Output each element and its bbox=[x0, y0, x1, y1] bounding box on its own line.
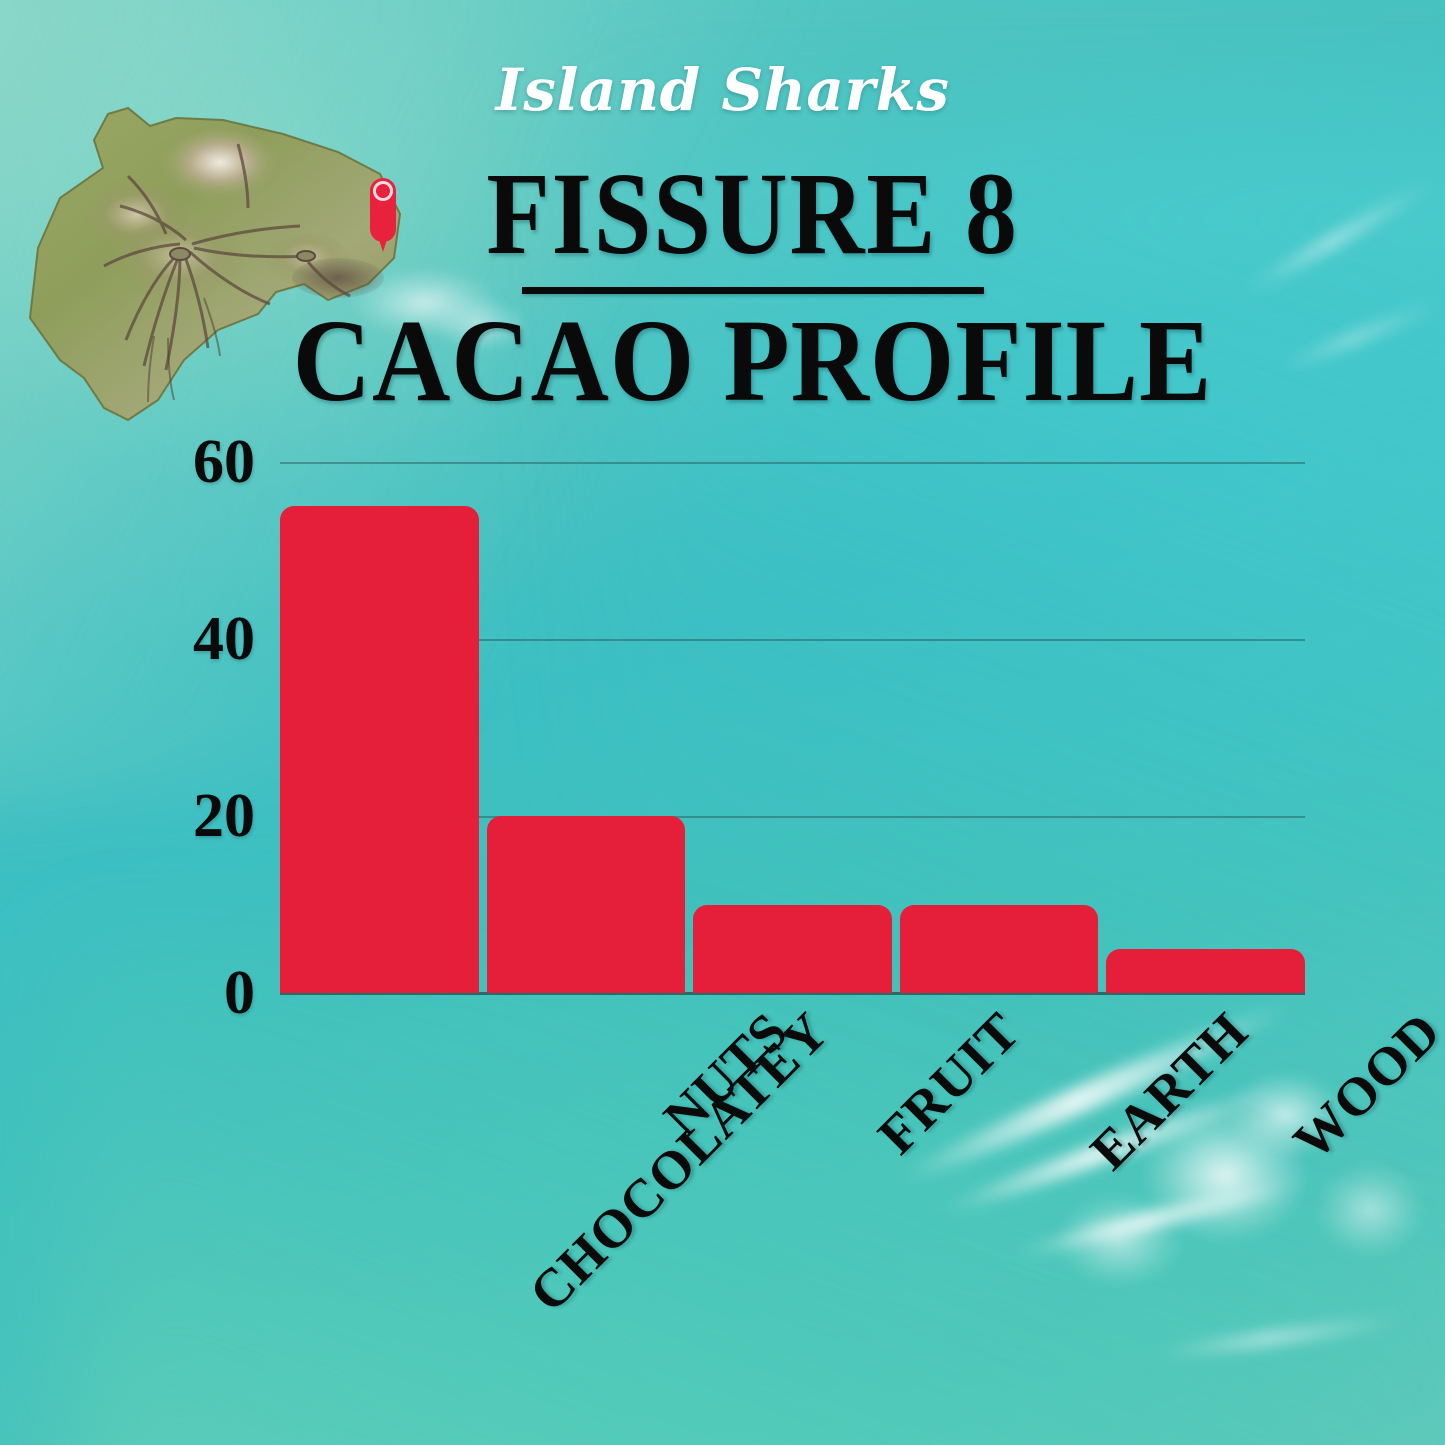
title-block: FISSURE 8 CACAO PROFILE bbox=[180, 155, 1325, 420]
title-divider bbox=[522, 287, 984, 294]
x-axis-labels: CHOCOLATEY NUTS FRUIT EARTH WOOD bbox=[280, 1000, 1305, 1360]
page-subtitle: CACAO PROFILE bbox=[226, 302, 1279, 420]
brand-name: Island Sharks bbox=[0, 56, 1445, 124]
cacao-profile-poster: Island Sharks FISSURE 8 CACAO PROFILE 60… bbox=[0, 0, 1445, 1445]
x-label-fruit: FRUIT bbox=[865, 1000, 1031, 1166]
page-title: FISSURE 8 bbox=[249, 155, 1257, 273]
x-label-earth: EARTH bbox=[1078, 1000, 1260, 1182]
